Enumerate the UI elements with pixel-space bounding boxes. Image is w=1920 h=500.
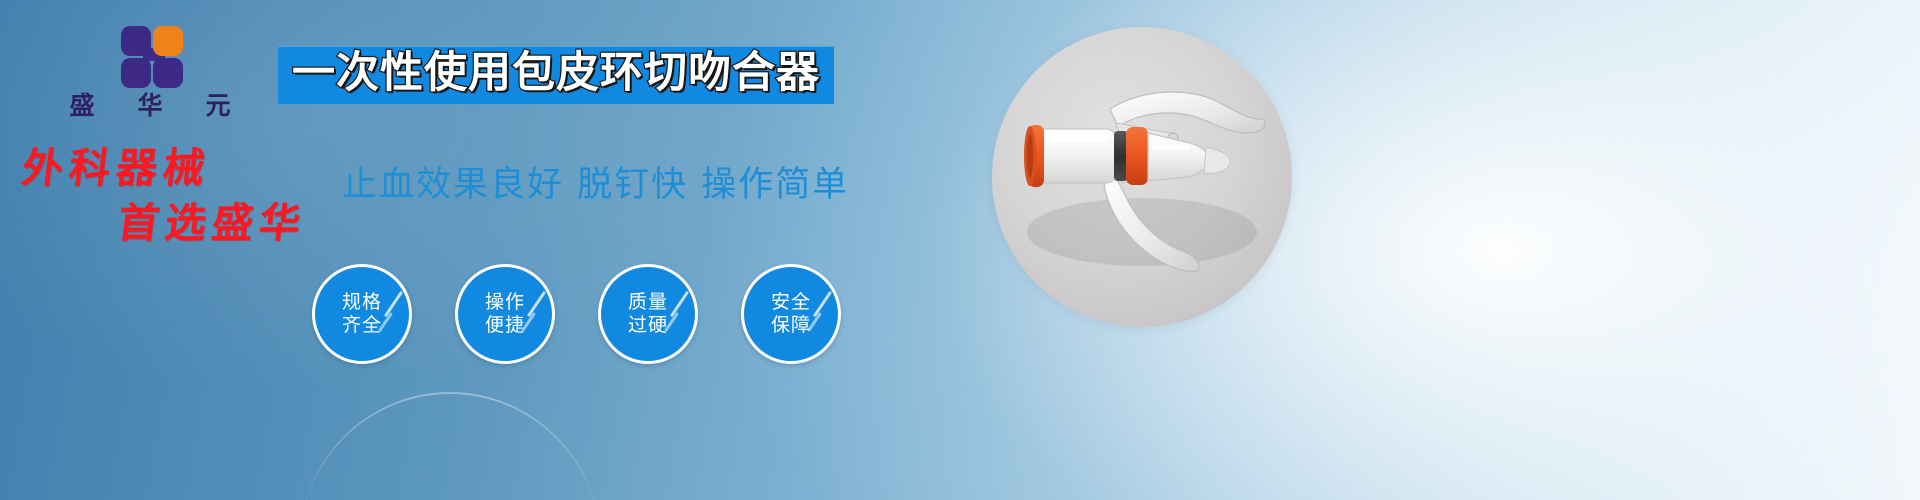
- brand-logo-block: 盛 华 元: [60, 26, 240, 126]
- decorative-arc: [300, 392, 600, 500]
- brand-name: 盛 华 元: [60, 92, 240, 120]
- main-title: 一次性使用包皮环切吻合器: [292, 52, 820, 95]
- slash-accent-icon: [813, 291, 832, 318]
- feature-badge[interactable]: 规格 齐全: [312, 264, 412, 364]
- feature-badge-label: 规格 齐全: [342, 291, 382, 337]
- subtitle: 止血效果良好 脱钉快 操作简单: [342, 166, 849, 205]
- shenghuayuan-h-blocks-logo-icon: [113, 26, 187, 88]
- calligraphy-slogan: 外科器械 首选盛华: [22, 148, 352, 244]
- feature-label-line-2: 过硬: [628, 314, 668, 336]
- slash-accent-icon: [384, 291, 403, 318]
- slash-accent-icon: [670, 291, 689, 318]
- logo-square-bottom-right: [153, 58, 183, 88]
- circumcision-stapler-device-photo: [992, 27, 1292, 327]
- calligraphy-line-1: 外科器械: [19, 148, 354, 189]
- calligraphy-line-2: 首选盛华: [115, 203, 354, 244]
- feature-label-line-2: 便捷: [485, 314, 525, 336]
- feature-label-line-1: 规格: [342, 291, 382, 313]
- feature-label-line-2: 齐全: [342, 314, 382, 336]
- feature-label-line-1: 安全: [771, 291, 811, 313]
- feature-label-line-2: 保障: [771, 314, 811, 336]
- feature-badge[interactable]: 安全 保障: [741, 264, 841, 364]
- logo-square-top-right-orange: [153, 26, 183, 56]
- feature-badge-label: 质量 过硬: [628, 291, 668, 337]
- logo-square-bottom-left: [121, 58, 151, 88]
- feature-badge-label: 操作 便捷: [485, 291, 525, 337]
- product-photo-circle: [992, 27, 1292, 327]
- feature-badge[interactable]: 质量 过硬: [598, 264, 698, 364]
- feature-badge[interactable]: 操作 便捷: [455, 264, 555, 364]
- feature-label-line-1: 操作: [485, 291, 525, 313]
- slash-accent-icon: [527, 291, 546, 318]
- feature-badge-list: 规格 齐全 操作 便捷 质量 过硬 安全 保障: [312, 264, 841, 364]
- feature-badge-label: 安全 保障: [771, 291, 811, 337]
- main-title-bar: 一次性使用包皮环切吻合器: [278, 46, 834, 104]
- feature-label-line-1: 质量: [628, 291, 668, 313]
- promotional-banner: 盛 华 元 外科器械 首选盛华 一次性使用包皮环切吻合器 止血效果良好 脱钉快 …: [0, 0, 1920, 500]
